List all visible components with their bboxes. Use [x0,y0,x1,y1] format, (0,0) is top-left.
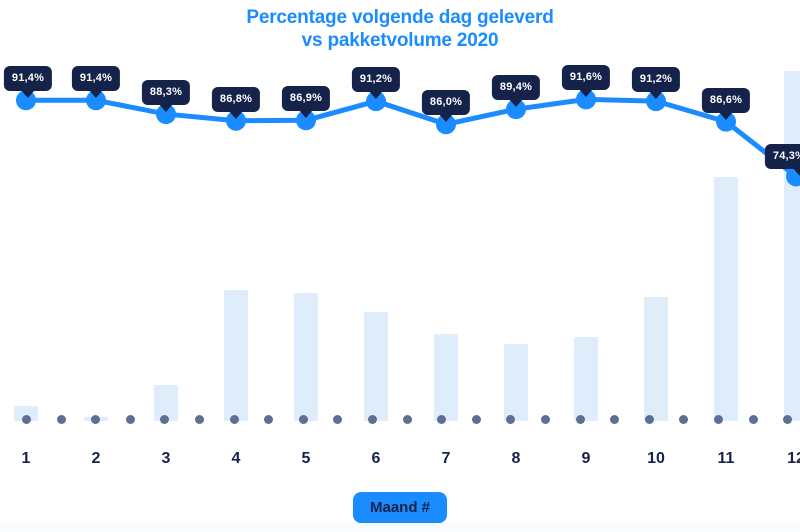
baseline-dot [749,415,758,424]
baseline-dot [333,415,342,424]
baseline-dot [195,415,204,424]
baseline-dot [783,415,792,424]
baseline-dot [437,415,446,424]
baseline-dot [230,415,239,424]
baseline-dot [91,415,100,424]
x-tick-7: 7 [442,450,451,468]
x-tick-12: 12 [787,450,800,468]
value-badge-month-8: 89,4% [492,75,540,100]
value-badge-month-6: 91,2% [352,67,400,92]
baseline-dot [506,415,515,424]
baseline-dot [160,415,169,424]
baseline-dot [368,415,377,424]
x-axis-labels: 123456789101112 [0,450,800,480]
value-badge-month-3: 88,3% [142,80,190,105]
value-badge-month-5: 86,9% [282,86,330,111]
baseline-dot [610,415,619,424]
x-tick-11: 11 [718,450,735,468]
trend-line [26,99,796,176]
baseline-dot [57,415,66,424]
baseline-dot [576,415,585,424]
x-tick-10: 10 [647,450,665,468]
baseline-dot [472,415,481,424]
plot-area [0,60,800,425]
value-badge-month-12: 74,3% [765,144,800,169]
baseline-dot [645,415,654,424]
x-tick-6: 6 [372,450,381,468]
baseline-dot [264,415,273,424]
value-badge-month-9: 91,6% [562,65,610,90]
baseline-dot [299,415,308,424]
x-tick-4: 4 [232,450,241,468]
x-axis-title-button[interactable]: Maand # [353,492,447,523]
value-badge-month-7: 86,0% [422,90,470,115]
chart-container: Percentage volgende dag geleverd vs pakk… [0,0,800,532]
value-badge-month-1: 91,4% [4,66,52,91]
baseline-dot [679,415,688,424]
footer-band [0,523,800,532]
value-badge-month-2: 91,4% [72,66,120,91]
x-tick-9: 9 [582,450,591,468]
baseline-dot [541,415,550,424]
value-badge-month-10: 91,2% [632,67,680,92]
x-tick-2: 2 [92,450,101,468]
value-badge-month-4: 86,8% [212,87,260,112]
chart-title-line-1: Percentage volgende dag geleverd [0,6,800,29]
x-axis-title-wrap: Maand # [0,492,800,523]
baseline-dot [714,415,723,424]
baseline-dot [126,415,135,424]
x-tick-1: 1 [22,450,31,468]
x-tick-5: 5 [302,450,311,468]
line-series-percentage [0,60,800,425]
x-tick-3: 3 [162,450,171,468]
baseline-dot [22,415,31,424]
chart-title: Percentage volgende dag geleverd vs pakk… [0,0,800,52]
value-badge-month-11: 86,6% [702,88,750,113]
x-tick-8: 8 [512,450,521,468]
chart-title-line-2: vs pakketvolume 2020 [0,29,800,52]
baseline-dot [403,415,412,424]
baseline-dots [0,415,800,429]
